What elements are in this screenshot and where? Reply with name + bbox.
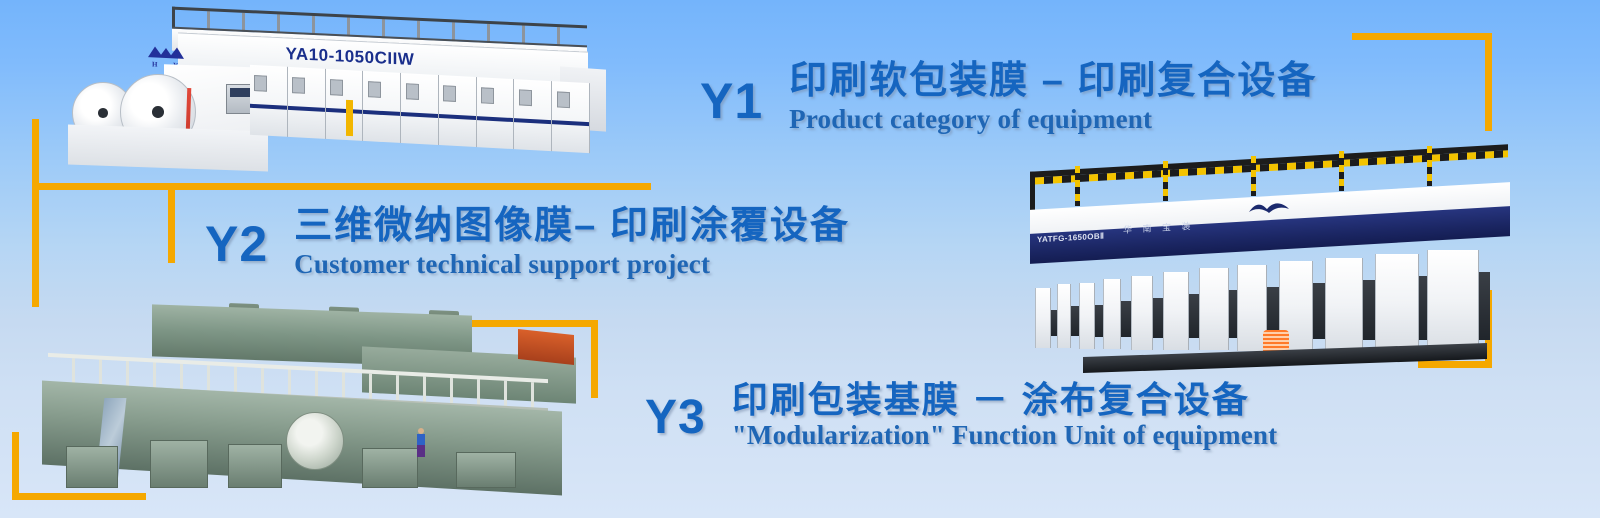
bracket-press-bottom <box>32 183 168 190</box>
press-printing-unit: 1 <box>250 65 288 137</box>
group-title-en-y2: Customer technical support project <box>294 250 850 280</box>
paperline-unit <box>228 444 282 488</box>
paperline-unit <box>456 452 516 488</box>
svg-text:H: H <box>152 60 158 68</box>
bracket-y2-top <box>168 183 651 190</box>
machine-photo-coating-laminator: 华 南 宝 装 YATFG-1650OBⅡ <box>975 158 1535 366</box>
bracket-press-left <box>32 119 39 307</box>
paperline-unit <box>362 448 418 488</box>
category-group-y1: Y1 印刷软包装膜 – 印刷复合设备 Product category of e… <box>700 60 1317 134</box>
press-printing-unit: 7 <box>477 77 515 149</box>
railing-post <box>1251 156 1256 196</box>
bird-logo <box>1247 199 1291 218</box>
press-printing-unit: 2 <box>288 67 326 139</box>
press-printing-unit: 6 <box>439 75 477 147</box>
group-title-cn-y1: 印刷软包装膜 – 印刷复合设备 <box>789 60 1317 103</box>
worker-legs <box>417 445 425 457</box>
bracket-y2-left <box>168 183 175 263</box>
press-printing-unit: 4 <box>363 71 401 143</box>
coater-tower <box>1131 276 1153 350</box>
railing-post <box>1163 161 1168 201</box>
worker-figure <box>417 428 425 456</box>
category-group-y2: Y2 三维微纳图像膜– 印刷涂覆设备 Customer technical su… <box>205 205 850 279</box>
equipment-category-banner: H Y YA10-1050CIIW 123456789 华 南 宝 装 YATF… <box>0 0 1600 518</box>
coater-tower <box>1325 258 1363 352</box>
railing-post <box>1339 151 1344 191</box>
coater-tower <box>1057 284 1071 348</box>
bracket-paperline-bottom <box>12 493 146 500</box>
bracket-y1-top <box>1352 33 1492 40</box>
coater-tower <box>1199 268 1229 350</box>
press-base-frame <box>68 125 268 172</box>
bracket-y2-down <box>591 320 598 398</box>
railing-post <box>1427 146 1432 186</box>
coater-tower <box>1079 283 1095 349</box>
bracket-paperline-left <box>12 432 19 500</box>
press-printing-unit: 8 <box>514 79 552 151</box>
group-title-en-y3: "Modularization" Function Unit of equipm… <box>732 421 1278 451</box>
paperline-unit <box>150 440 208 488</box>
coater-tower <box>1375 254 1419 352</box>
railing-post <box>1075 166 1080 206</box>
coater-tower <box>1035 288 1051 348</box>
coater-tower <box>1163 272 1189 350</box>
coater-tower <box>1103 279 1121 349</box>
coater-tower <box>1427 250 1479 352</box>
paperline-drum-roll <box>286 412 344 470</box>
group-code-y3: Y3 <box>645 394 706 442</box>
press-yellow-guard <box>346 100 353 136</box>
press-printing-unit: 5 <box>401 73 439 145</box>
group-title-cn-y2: 三维微纳图像膜– 印刷涂覆设备 <box>294 205 850 248</box>
group-code-y1: Y1 <box>700 76 763 126</box>
paperline-unit <box>66 446 118 488</box>
coater-roller-assembly <box>1479 272 1490 340</box>
bracket-y1-right <box>1485 33 1492 131</box>
press-printing-unit: 9 <box>552 81 590 153</box>
press-printing-unit: 3 <box>326 69 364 141</box>
group-title-en-y1: Product category of equipment <box>789 105 1317 135</box>
worker-torso <box>417 434 425 445</box>
group-title-cn-y3: 印刷包装基膜 － 涂布复合设备 <box>732 380 1278 420</box>
machine-photo-paper-coating-line <box>32 302 580 494</box>
machine-photo-printing-press: H Y YA10-1050CIIW 123456789 <box>60 2 605 174</box>
category-group-y3: Y3 印刷包装基膜 － 涂布复合设备 "Modularization" Func… <box>645 380 1277 451</box>
paperline-orange-module <box>518 329 574 365</box>
group-code-y2: Y2 <box>205 219 268 269</box>
